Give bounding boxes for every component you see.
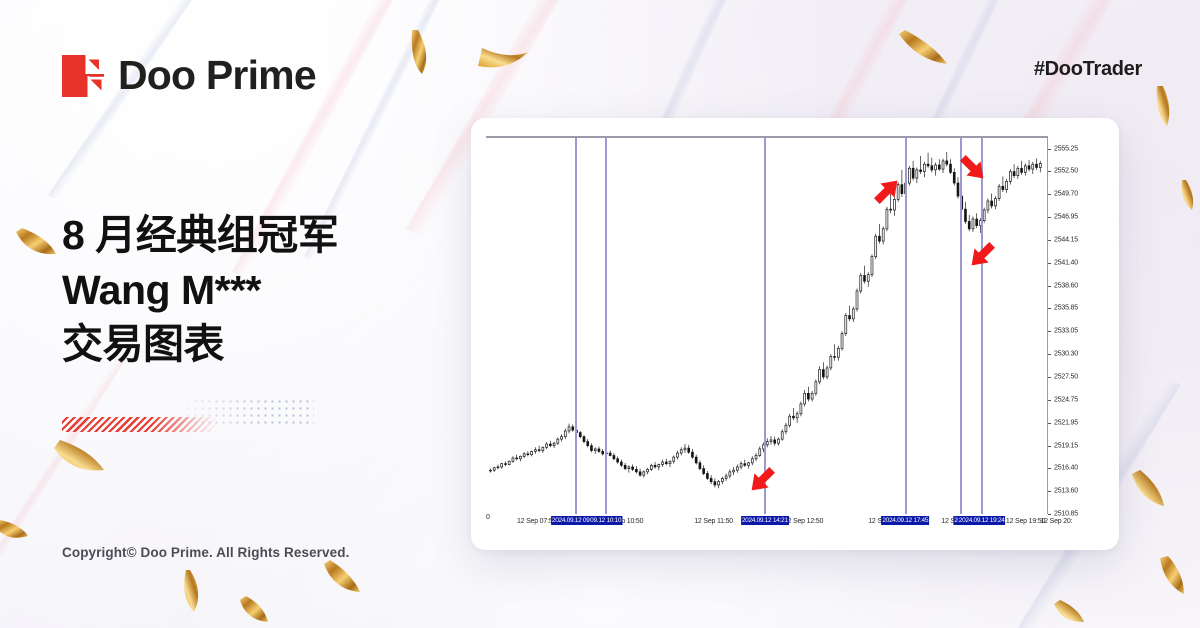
price-tick-label: 2538.60: [1054, 282, 1078, 289]
price-tick-label: 2533.05: [1054, 328, 1078, 335]
trade-marker-label: 2024.09.12 17:45: [881, 516, 929, 525]
trade-marker-label: 2024.09.12 14:21: [741, 516, 789, 525]
candlestick-plot: [486, 136, 1048, 514]
price-tick-label: 2535.85: [1054, 305, 1078, 312]
time-axis: 012 Sep 07:5012 Sep 10:5012 Sep 11:5012 …: [486, 514, 1048, 536]
decorative-accent: [62, 398, 314, 440]
price-tick: [1048, 446, 1051, 447]
time-tick-label: 0: [486, 514, 490, 521]
time-tick-label: 12 Sep 11:50: [694, 518, 733, 525]
price-tick-label: 2524.75: [1054, 396, 1078, 403]
price-tick: [1048, 514, 1051, 515]
price-tick-label: 2513.60: [1054, 488, 1078, 495]
brand-logo: Doo Prime: [62, 52, 316, 99]
price-tick-label: 2546.95: [1054, 214, 1078, 221]
price-tick: [1048, 400, 1051, 401]
price-tick: [1048, 491, 1051, 492]
time-tick-label: 12 Sep 19:50: [1006, 518, 1045, 525]
trade-marker-line: [960, 138, 962, 514]
copyright-text: Copyright© Doo Prime. All Rights Reserve…: [62, 545, 349, 560]
doo-prime-logo-icon: [62, 55, 104, 97]
headline-line-3: 交易图表: [62, 317, 462, 372]
price-tick: [1048, 377, 1051, 378]
price-tick: [1048, 286, 1051, 287]
price-tick: [1048, 468, 1051, 469]
price-tick: [1048, 354, 1051, 355]
trade-marker-line: [605, 138, 607, 514]
hashtag-label: #DooTrader: [1034, 58, 1142, 81]
time-tick-label: 12 Sep 12:50: [784, 518, 823, 525]
price-axis: 2555.252552.502549.702546.952544.152541.…: [1048, 136, 1106, 514]
trade-marker-line: [575, 138, 577, 514]
price-tick-label: 2555.25: [1054, 145, 1078, 152]
trade-marker-label: 09.12 10:10: [589, 516, 622, 525]
brand-name: Doo Prime: [118, 52, 316, 99]
price-tick: [1048, 263, 1051, 264]
price-tick: [1048, 194, 1051, 195]
red-stripe-decoration: [62, 417, 217, 432]
price-tick-label: 2519.15: [1054, 442, 1078, 449]
price-tick: [1048, 423, 1051, 424]
price-tick: [1048, 308, 1051, 309]
trade-marker-label: 2024.09.12 19:24: [958, 516, 1006, 525]
headline-line-2: Wang M***: [62, 263, 462, 318]
price-tick-label: 2527.50: [1054, 374, 1078, 381]
trade-marker-line: [981, 138, 983, 514]
price-tick-label: 2521.95: [1054, 419, 1078, 426]
price-tick-label: 2544.15: [1054, 237, 1078, 244]
price-tick: [1048, 149, 1051, 150]
price-tick-label: 2541.40: [1054, 259, 1078, 266]
headline-line-1: 8 月经典组冠军: [62, 208, 462, 263]
price-tick-label: 2552.50: [1054, 168, 1078, 175]
price-tick: [1048, 217, 1051, 218]
price-tick-label: 2530.30: [1054, 350, 1078, 357]
time-tick-label: 12 Sep 20:: [1040, 518, 1072, 525]
price-tick: [1048, 171, 1051, 172]
price-tick: [1048, 331, 1051, 332]
chart-card: 2555.252552.502549.702546.952544.152541.…: [471, 118, 1119, 550]
page-title: 8 月经典组冠军 Wang M*** 交易图表: [62, 208, 462, 372]
price-tick: [1048, 240, 1051, 241]
price-tick-label: 2516.40: [1054, 465, 1078, 472]
price-tick-label: 2510.85: [1054, 511, 1078, 518]
price-tick-label: 2549.70: [1054, 191, 1078, 198]
